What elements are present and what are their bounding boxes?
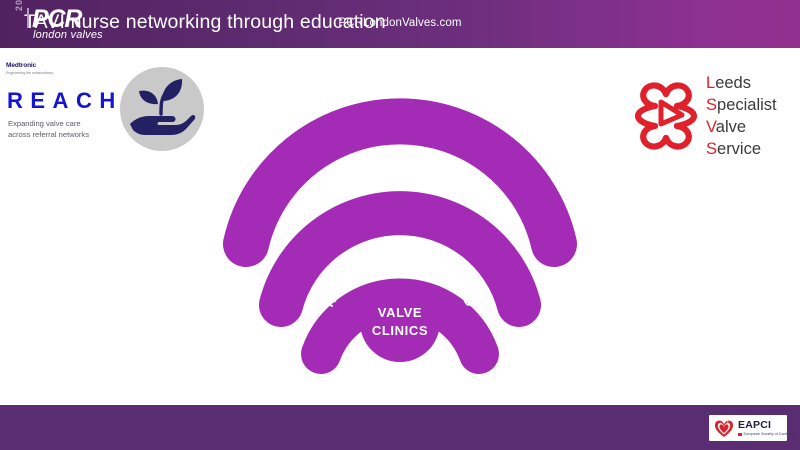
- reach-tagline-line2: across referral networks: [8, 130, 89, 139]
- leeds-cap-s2: S: [706, 140, 717, 158]
- leeds-rest-pecialist: pecialist: [717, 96, 777, 114]
- center-label-line2: CLINICS: [372, 323, 428, 338]
- hand-holding-plant-icon: [128, 77, 196, 139]
- medtronic-tagline: Engineering the extraordinary: [6, 71, 53, 75]
- reach-tagline: Expanding valve care across referral net…: [8, 119, 118, 140]
- slide-footer-bar: [0, 405, 800, 450]
- leeds-cap-l: L: [706, 74, 715, 92]
- reach-tagline-line1: Expanding valve care: [8, 119, 81, 128]
- eapci-badge: EAPCI European Society of Cardiology: [709, 415, 787, 441]
- leeds-specialist-valve-service-logo: Leeds Specialist Valve Service: [630, 72, 795, 164]
- center-circle-valve-clinics: VALVE CLINICS: [360, 282, 440, 362]
- leeds-clover-heart-mark: [630, 78, 702, 154]
- center-label-line1: VALVE: [378, 305, 422, 320]
- pcr-sub-wordmark: london valves: [33, 29, 103, 41]
- medtronic-wordmark: Medtronic: [6, 62, 36, 69]
- eapci-sub-wordmark: European Society of Cardiology: [744, 432, 797, 436]
- reach-logo: Medtronic Engineering the extraordinary …: [0, 58, 204, 158]
- leeds-logo-text: Leeds Specialist Valve Service: [706, 72, 777, 160]
- leeds-line-specialist: Specialist: [706, 94, 777, 116]
- leeds-cap-v: V: [706, 118, 716, 136]
- leeds-cap-s1: S: [706, 96, 717, 114]
- pcr-year: 2022: [14, 0, 24, 11]
- leeds-line-service: Service: [706, 138, 777, 160]
- footer-url: PCRLondonValves.com: [0, 17, 800, 29]
- leeds-rest-ervice: ervice: [717, 140, 761, 158]
- wifi-arc-diagram: KEEP PEOPLE INTERESTED KEEP PEOPLE INVOL…: [200, 62, 600, 382]
- leeds-line-valve: Valve: [706, 116, 777, 138]
- slide-canvas: TAVI nurse networking through education …: [0, 0, 800, 450]
- leeds-line-leeds: Leeds: [706, 72, 777, 94]
- reach-icon-box: [118, 63, 204, 158]
- reach-wordmark: REACH: [7, 88, 123, 114]
- eapci-wordmark: EAPCI: [738, 419, 771, 431]
- heart-icon: [714, 419, 734, 438]
- leeds-rest-eeds: eeds: [715, 74, 751, 92]
- leeds-rest-alve: alve: [716, 118, 746, 136]
- eapci-esc-square: [738, 433, 742, 437]
